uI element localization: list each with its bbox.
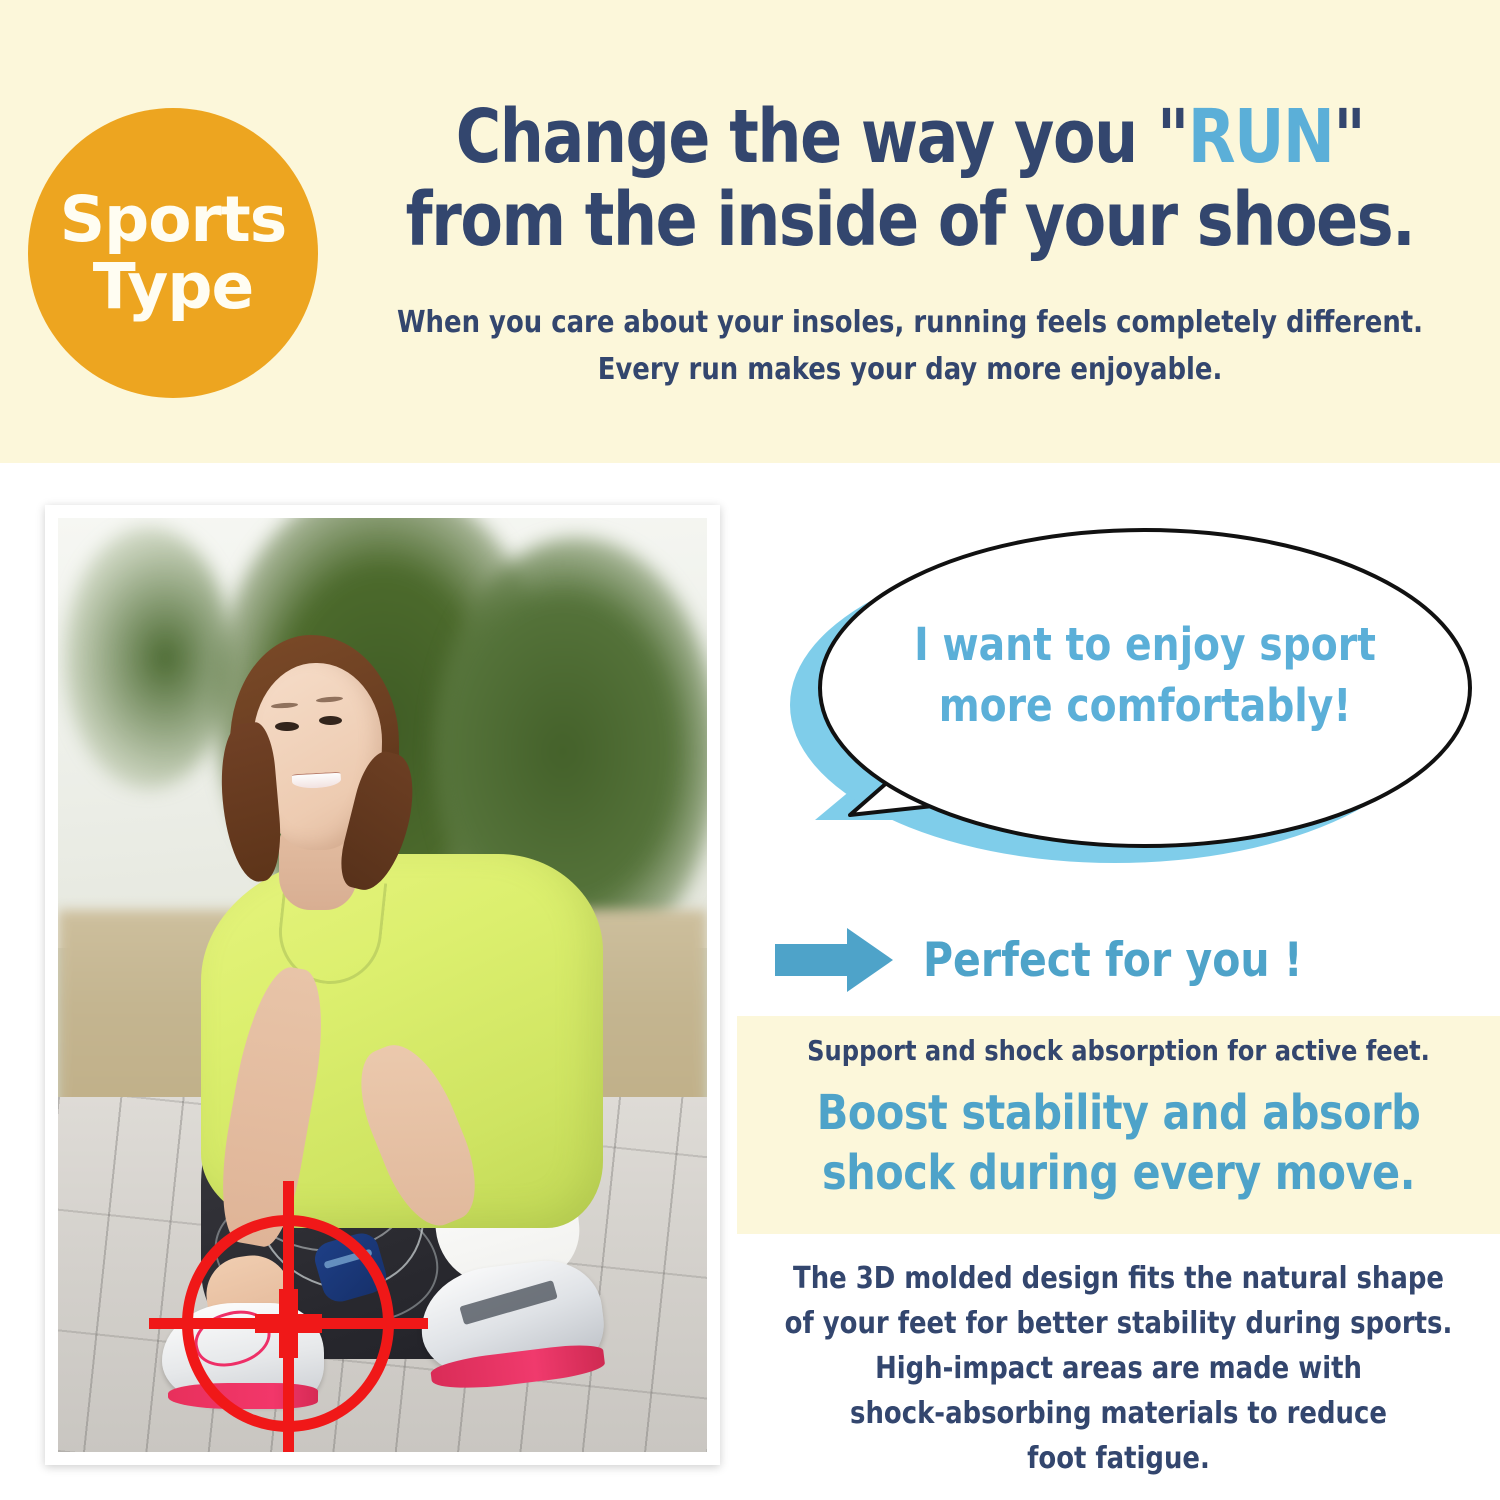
headline-quote-open: ": [1157, 94, 1188, 180]
subheadline-line-1: When you care about your insoles, runnin…: [353, 300, 1467, 347]
header-band: Sports Type Change the way you "RUN" fro…: [0, 0, 1500, 463]
body-copy-line-5: foot fatigue.: [752, 1436, 1484, 1481]
feature-panel: Support and shock absorption for active …: [737, 1016, 1500, 1234]
headline-line-1: Change the way you "RUN": [371, 96, 1450, 179]
cta-row: Perfect for you !: [755, 916, 1485, 1004]
headline-line-2: from the inside of your shoes.: [371, 179, 1450, 262]
subheadline: When you care about your insoles, runnin…: [353, 300, 1467, 393]
feature-panel-headline: Boost stability and absorb shock during …: [752, 1083, 1484, 1203]
headline-accent-run: RUN: [1188, 94, 1334, 180]
hero-photo: [58, 518, 707, 1452]
bubble-line-2: more comfortably!: [839, 676, 1450, 737]
subheadline-line-2: Every run makes your day more enjoyable.: [353, 347, 1467, 394]
headline-quote-close: ": [1333, 94, 1364, 180]
cta-label: Perfect for you !: [923, 933, 1303, 988]
speech-bubble-zone: I want to enjoy sport more comfortably!: [755, 520, 1485, 910]
photo-eye-left: [275, 722, 298, 731]
body-copy-line-2: of your feet for better stability during…: [752, 1301, 1484, 1346]
feature-panel-headline-line-2: shock during every move.: [752, 1143, 1484, 1203]
right-arrow-svg: [773, 926, 895, 994]
feature-panel-headline-line-1: Boost stability and absorb: [752, 1083, 1484, 1143]
feature-panel-eyebrow: Support and shock absorption for active …: [752, 1034, 1484, 1067]
headline-wrap: Change the way you "RUN" from the inside…: [330, 96, 1490, 262]
bubble-text-wrap: I want to enjoy sport more comfortably!: [830, 615, 1460, 737]
sports-type-badge: Sports Type: [28, 108, 318, 398]
crosshair-center-horizontal: [255, 1314, 322, 1333]
headline-line-1-pre: Change the way you: [456, 94, 1157, 180]
body-copy-line-4: shock-absorbing materials to reduce: [752, 1391, 1484, 1436]
badge-line-1: Sports: [60, 188, 286, 251]
body-copy-line-1: The 3D molded design fits the natural sh…: [752, 1256, 1484, 1301]
crosshair-target-icon: [149, 1181, 428, 1452]
photo-tree-left: [64, 527, 233, 789]
hero-photo-frame: [45, 505, 720, 1465]
right-arrow-icon: [773, 926, 895, 994]
body-copy: The 3D molded design fits the natural sh…: [752, 1256, 1484, 1481]
badge-line-2: Type: [93, 255, 253, 318]
bubble-line-1: I want to enjoy sport: [839, 615, 1450, 676]
body-copy-line-3: High-impact areas are made with: [752, 1346, 1484, 1391]
